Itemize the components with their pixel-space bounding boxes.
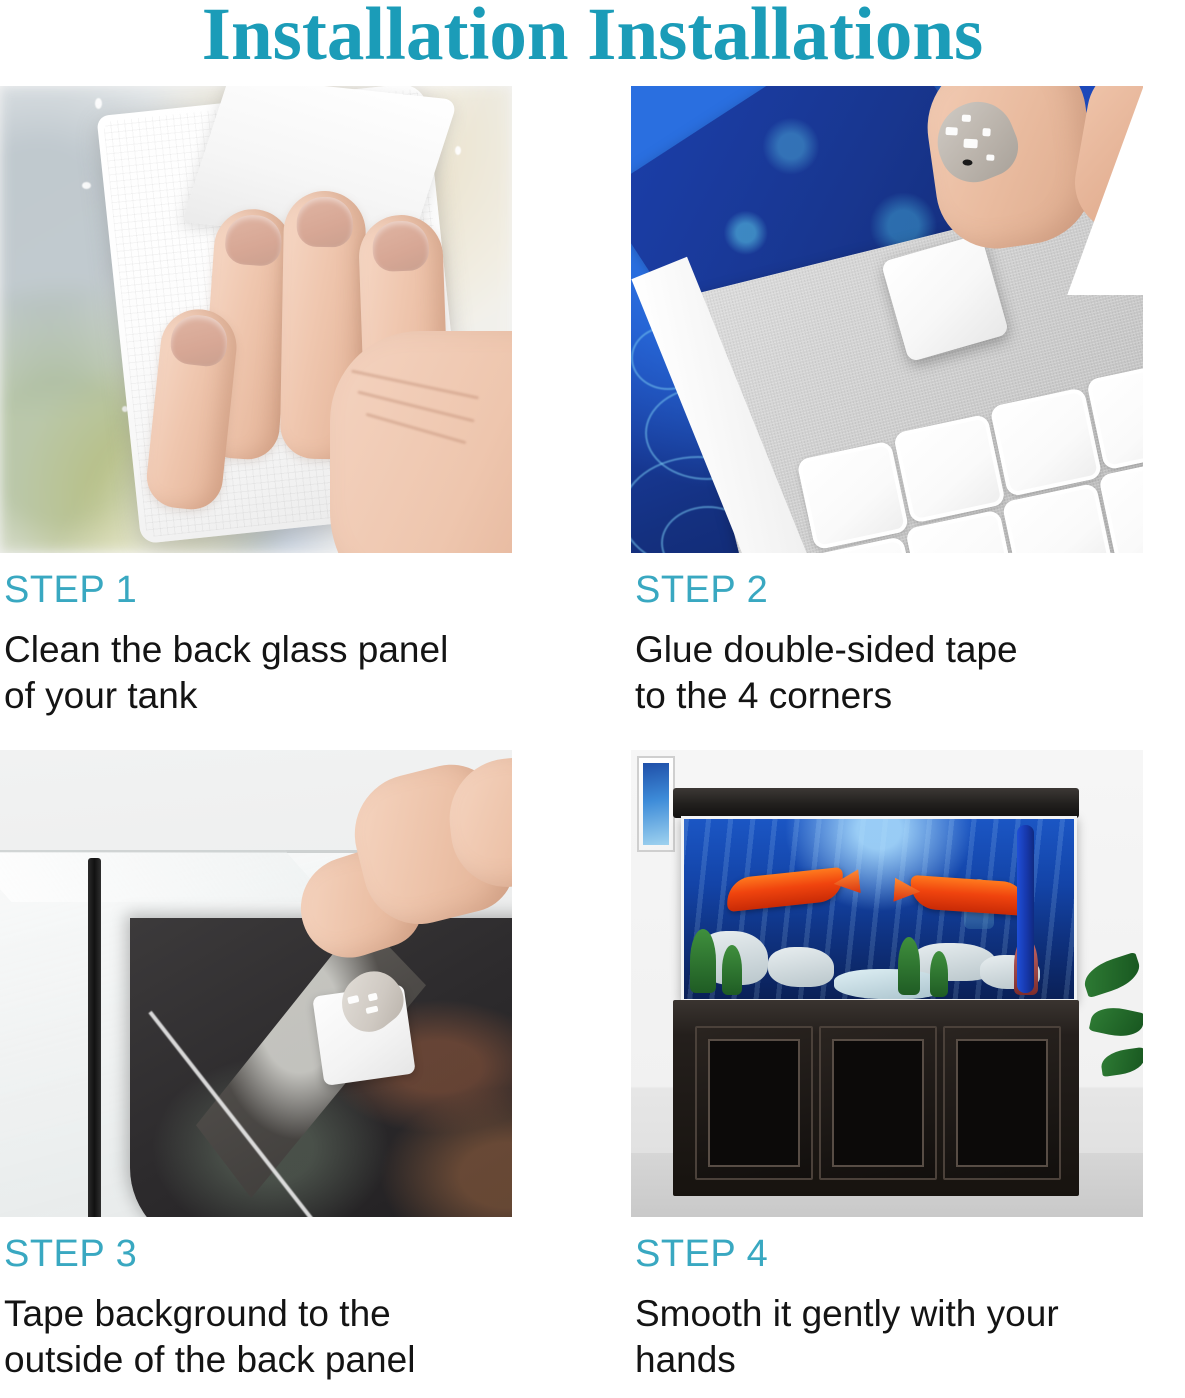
wall-picture-frame: [637, 756, 675, 852]
fingernail-with-glitter: [926, 91, 1028, 193]
glitter-fleck: [982, 128, 990, 136]
step-1-text: Clean the back glass panel of your tank: [0, 627, 512, 718]
knuckle-crease: [366, 413, 467, 445]
glitter-fleck: [986, 154, 994, 160]
step-1-photo: [0, 86, 512, 553]
cabinet-door[interactable]: [819, 1026, 937, 1180]
tank-corner-trim: [88, 858, 101, 1217]
glitter-fleck: [368, 993, 378, 1002]
step-2-caption: STEP 2 Glue double-sided tape to the 4 c…: [631, 553, 1143, 718]
step-card-4: STEP 4 Smooth it gently with your hands: [631, 750, 1143, 1382]
fingernail: [169, 313, 230, 369]
adhesive-pad: [893, 414, 1006, 524]
tank-top-rim: [0, 850, 331, 902]
aquatic-plant: [930, 951, 948, 997]
step-2-text: Glue double-sided tape to the 4 corners: [631, 627, 1143, 718]
fingernail: [372, 220, 430, 272]
aquatic-plant: [690, 929, 716, 993]
step-card-3: STEP 3 Tape background to the outside of…: [0, 750, 512, 1382]
step-card-1: STEP 1 Clean the back glass panel of you…: [0, 86, 512, 718]
glitter-fleck: [365, 1005, 378, 1014]
filter-tube: [1017, 825, 1034, 993]
hand: [150, 181, 512, 553]
fingernail: [296, 197, 353, 248]
aquatic-plant: [722, 945, 742, 995]
step-4-label: STEP 4: [631, 1235, 1143, 1273]
glitter-fleck: [963, 139, 977, 149]
glitter-fleck: [347, 995, 359, 1004]
glitter-fleck: [962, 115, 971, 122]
water-droplet: [95, 98, 102, 109]
page-header: Installation Installations: [0, 0, 1185, 86]
palm: [330, 331, 512, 553]
step-4-photo: [631, 750, 1143, 1217]
cabinet-door[interactable]: [695, 1026, 813, 1180]
page-title: Installation Installations: [202, 0, 983, 78]
step-3-text: Tape background to the outside of the ba…: [0, 1291, 512, 1382]
step-1-caption: STEP 1 Clean the back glass panel of you…: [0, 553, 512, 718]
step-card-2: STEP 2 Glue double-sided tape to the 4 c…: [631, 86, 1143, 718]
water-droplet: [82, 182, 91, 189]
adhesive-pad: [796, 440, 909, 550]
adhesive-pad: [989, 387, 1102, 497]
step-4-caption: STEP 4 Smooth it gently with your hands: [631, 1217, 1143, 1382]
glitter-fleck: [962, 159, 972, 166]
hand: [300, 758, 512, 958]
aquarium-hood: [673, 788, 1079, 818]
water-droplet: [455, 146, 461, 155]
gravel-bed: [834, 969, 944, 999]
aquarium-cabinet-stand: [673, 1000, 1079, 1196]
rock: [768, 947, 834, 987]
aquarium-tank: [681, 816, 1077, 1002]
step-2-label: STEP 2: [631, 571, 1143, 609]
step-2-photo: [631, 86, 1143, 553]
step-3-photo: [0, 750, 512, 1217]
step-1-label: STEP 1: [0, 571, 512, 609]
aquatic-plant: [898, 937, 920, 995]
step-3-label: STEP 3: [0, 1235, 512, 1273]
cabinet-door[interactable]: [943, 1026, 1061, 1180]
glitter-fleck: [945, 127, 957, 136]
steps-grid: STEP 1 Clean the back glass panel of you…: [0, 86, 1185, 1398]
step-3-caption: STEP 3 Tape background to the outside of…: [0, 1217, 512, 1382]
fingernail: [224, 213, 283, 267]
little-finger: [144, 306, 240, 513]
step-4-text: Smooth it gently with your hands: [631, 1291, 1143, 1382]
